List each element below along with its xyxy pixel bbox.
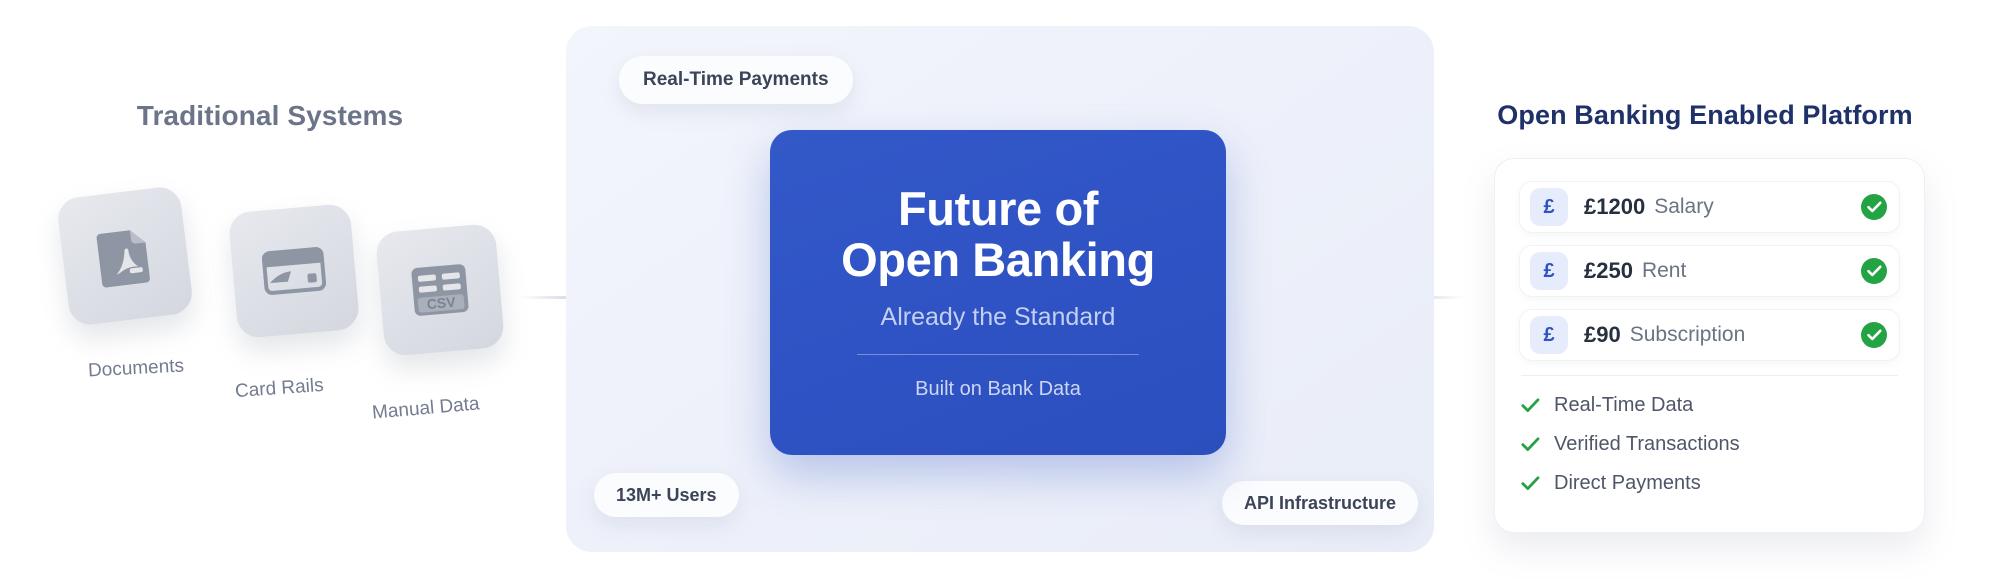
hero-subtitle: Already the Standard xyxy=(881,303,1116,332)
gbp-currency-icon: £ xyxy=(1530,316,1568,354)
verified-check-icon xyxy=(1861,322,1887,348)
transaction-label: Salary xyxy=(1654,195,1714,219)
svg-text:CSV: CSV xyxy=(426,294,457,313)
gbp-currency-icon: £ xyxy=(1530,188,1568,226)
comparison-diagram: Traditional Systems Documents xyxy=(0,0,2000,580)
pill-real-time-payments[interactable]: Real-Time Payments xyxy=(619,56,853,104)
open-banking-title: Open Banking Enabled Platform xyxy=(1450,100,1960,131)
card-divider xyxy=(1521,375,1898,376)
feature-label: Direct Payments xyxy=(1554,472,1701,495)
tile-documents xyxy=(56,185,195,327)
transaction-amount: £90 xyxy=(1584,322,1621,348)
transaction-label: Subscription xyxy=(1630,323,1746,347)
tile-card-rails xyxy=(228,203,361,339)
check-icon xyxy=(1519,476,1541,491)
feature-label: Verified Transactions xyxy=(1554,433,1740,456)
list-item: Real-Time Data xyxy=(1519,390,1900,420)
table-row[interactable]: £ £1200 Salary xyxy=(1519,181,1900,233)
list-item: Verified Transactions xyxy=(1519,429,1900,459)
feature-label: Real-Time Data xyxy=(1554,394,1693,417)
hero-card: Future of Open Banking Already the Stand… xyxy=(770,130,1226,455)
open-banking-card: £ £1200 Salary £ £250 Rent £ £90 Subscri… xyxy=(1494,158,1925,533)
tile-manual-data: CSV xyxy=(375,223,505,357)
verified-check-icon xyxy=(1861,194,1887,220)
csv-spreadsheet-icon: CSV xyxy=(409,262,471,319)
gbp-currency-icon: £ xyxy=(1530,252,1568,290)
hero-title-line1: Future of xyxy=(841,184,1155,235)
table-row[interactable]: £ £90 Subscription xyxy=(1519,309,1900,361)
traditional-systems-column: Traditional Systems Documents xyxy=(0,0,540,580)
table-row[interactable]: £ £250 Rent xyxy=(1519,245,1900,297)
credit-card-icon xyxy=(261,244,327,297)
tile-label-card-rails: Card Rails xyxy=(234,375,324,403)
list-item: Direct Payments xyxy=(1519,468,1900,498)
transaction-amount: £1200 xyxy=(1584,194,1645,220)
hero-title: Future of Open Banking xyxy=(841,184,1155,286)
hero-divider xyxy=(857,354,1139,355)
hero-title-line2: Open Banking xyxy=(841,235,1155,286)
tile-label-documents: Documents xyxy=(87,356,184,383)
transaction-amount: £250 xyxy=(1584,258,1633,284)
hero-footer: Built on Bank Data xyxy=(915,378,1081,401)
verified-check-icon xyxy=(1861,258,1887,284)
pdf-document-icon xyxy=(94,224,157,288)
tile-label-manual-data: Manual Data xyxy=(371,393,480,424)
pill-users-count[interactable]: 13M+ Users xyxy=(594,473,739,517)
traditional-systems-title: Traditional Systems xyxy=(0,100,540,132)
pill-api-infrastructure[interactable]: API Infrastructure xyxy=(1222,481,1418,525)
check-icon xyxy=(1519,398,1541,413)
check-icon xyxy=(1519,437,1541,452)
transaction-label: Rent xyxy=(1642,259,1686,283)
